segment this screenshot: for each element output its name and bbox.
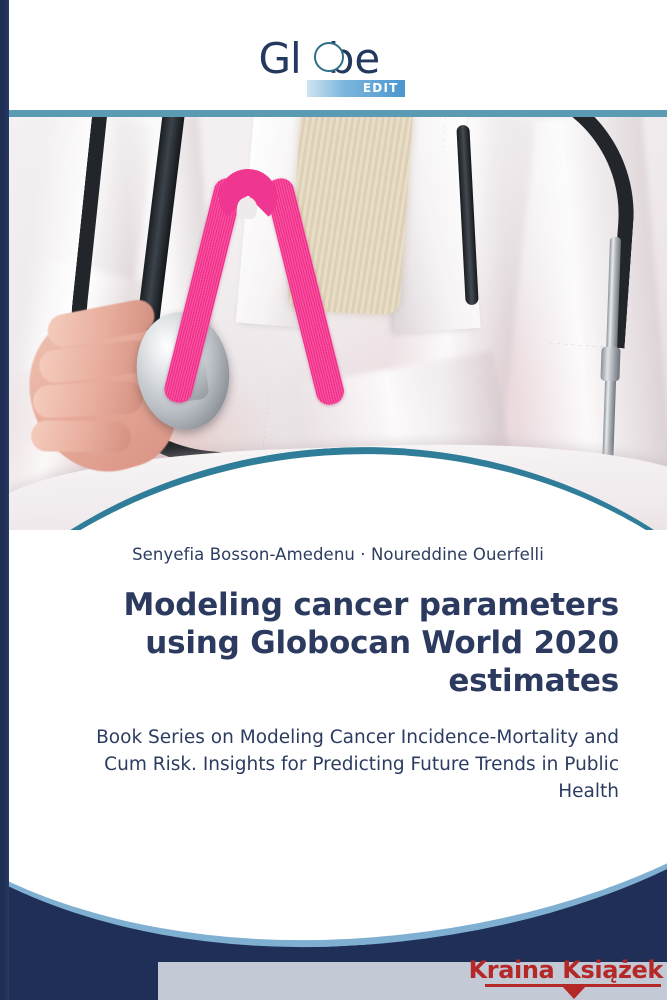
photo-clip <box>9 117 667 530</box>
edit-badge: EDIT <box>307 80 405 97</box>
cover-text-block: Senyefia Bosson-Amedenu · Noureddine Oue… <box>9 545 667 805</box>
pink-ribbon-icon <box>205 179 325 419</box>
watermark-logo: Kraina Książek <box>480 956 665 998</box>
book-title: Modeling cancer parameters using Globoca… <box>57 586 619 700</box>
logo-text-gl: Gl <box>259 34 301 83</box>
publisher-logo: Glbe EDIT <box>0 36 667 98</box>
spine-strip <box>0 0 9 1000</box>
bottom-swoosh-curve <box>0 840 667 973</box>
cover-photo <box>9 110 667 530</box>
photo-top-rule <box>9 110 667 117</box>
finger <box>32 380 144 419</box>
globe-swoosh-secondary-icon <box>314 55 344 72</box>
stethoscope-joint <box>600 347 620 382</box>
finger <box>31 420 132 453</box>
author-names: Senyefia Bosson-Amedenu · Noureddine Oue… <box>57 545 619 564</box>
watermark-book-icon <box>561 985 587 999</box>
watermark-text: Kraina Książek <box>469 956 663 984</box>
globe-icon <box>314 42 344 72</box>
book-cover: Glbe EDIT <box>0 0 667 1000</box>
book-subtitle: Book Series on Modeling Cancer Incidence… <box>57 724 619 805</box>
